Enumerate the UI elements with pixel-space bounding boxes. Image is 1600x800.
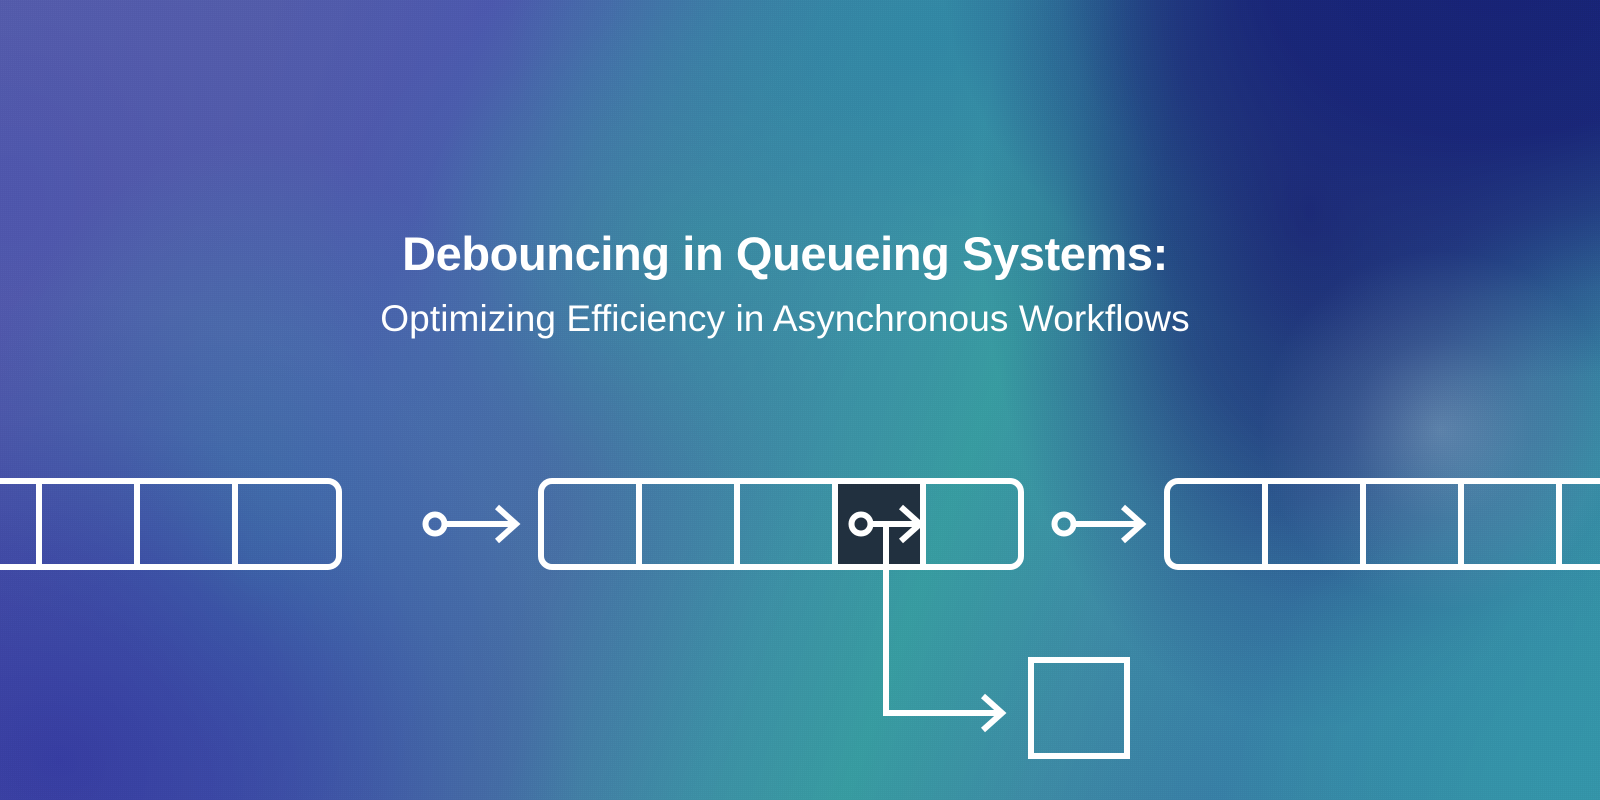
queue-cell bbox=[1562, 484, 1600, 564]
queue-debounce bbox=[538, 478, 1024, 570]
queue-cell bbox=[0, 484, 42, 564]
queue-cell bbox=[140, 484, 238, 564]
arrow-queue2-to-queue3-icon bbox=[1055, 507, 1143, 541]
queue-cell bbox=[1366, 484, 1464, 564]
queue-inbound bbox=[0, 478, 342, 570]
queue-cell-highlighted bbox=[838, 484, 920, 564]
arrow-queue1-to-queue2-icon bbox=[426, 507, 517, 541]
queue-cell bbox=[1170, 484, 1268, 564]
queue-cell bbox=[238, 484, 336, 564]
hero-banner: Debouncing in Queueing Systems: Optimizi… bbox=[0, 0, 1600, 800]
queue-cell bbox=[920, 484, 1018, 564]
queue-cell bbox=[544, 484, 642, 564]
queue-cell bbox=[1464, 484, 1562, 564]
queue-cell bbox=[740, 484, 838, 564]
discarded-task-box bbox=[1028, 657, 1130, 759]
queue-cell bbox=[42, 484, 140, 564]
queue-cell bbox=[642, 484, 740, 564]
connector-overlay bbox=[0, 0, 1600, 800]
queue-outbound bbox=[1164, 478, 1600, 570]
queue-cell bbox=[1268, 484, 1366, 564]
queue-diagram bbox=[0, 0, 1600, 800]
